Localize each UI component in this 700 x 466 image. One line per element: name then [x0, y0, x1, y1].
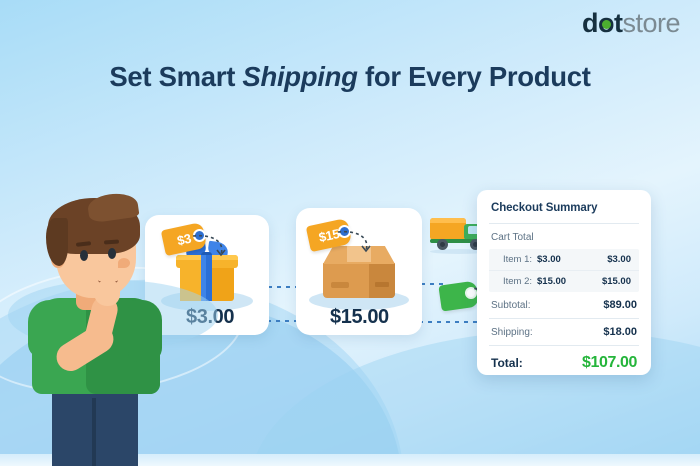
subtotal-label: Subtotal: [491, 300, 530, 311]
checkout-title: Checkout Summary [477, 190, 651, 223]
tag-arrow-curve-icon [191, 232, 229, 258]
logo-text-store: store [622, 10, 680, 37]
dotstore-logo[interactable]: dot store [582, 10, 680, 37]
item-2-label: Item 2: [503, 276, 537, 287]
headline-part-2: for Every Product [358, 61, 591, 92]
headline-part-1: Set Smart [109, 61, 242, 92]
checkout-items-table: Item 1: $3.00 $3.00 Item 2: $15.00 $15.0… [489, 249, 639, 292]
cart-total-label: Cart Total [477, 224, 651, 249]
item-1-label: Item 1: [503, 254, 537, 265]
shipping-row: Shipping: $18.00 [477, 319, 651, 345]
price-tag-15: $15 [308, 222, 350, 248]
tag-arrow-curve-icon [336, 228, 374, 254]
shipping-value: $18.00 [603, 326, 637, 338]
product-price-2: $15.00 [330, 306, 389, 329]
table-row: Item 2: $15.00 $15.00 [489, 270, 639, 292]
total-value: $107.00 [582, 354, 637, 372]
shipping-tag-icon [440, 283, 478, 309]
total-row: Total: $107.00 [477, 346, 651, 372]
headline-emphasis: Shipping [242, 61, 357, 92]
checkout-summary-panel: Checkout Summary Cart Total Item 1: $3.0… [477, 190, 651, 375]
promo-banner: dot store Set Smart Shipping for Every P… [0, 0, 700, 466]
item-1-amount: $3.00 [607, 254, 635, 265]
item-1-unit-price: $3.00 [537, 254, 607, 265]
total-label: Total: [491, 356, 523, 370]
item-2-amount: $15.00 [602, 276, 635, 287]
shipping-label: Shipping: [491, 327, 533, 338]
subtotal-value: $89.00 [603, 299, 637, 311]
subtotal-row: Subtotal: $89.00 [477, 292, 651, 318]
table-row: Item 1: $3.00 $3.00 [489, 249, 639, 270]
page-title: Set Smart Shipping for Every Product [0, 61, 700, 93]
connector-dots-card1-card2-upper [268, 286, 298, 288]
thinking-man-illustration [18, 188, 178, 466]
item-2-unit-price: $15.00 [537, 276, 602, 287]
